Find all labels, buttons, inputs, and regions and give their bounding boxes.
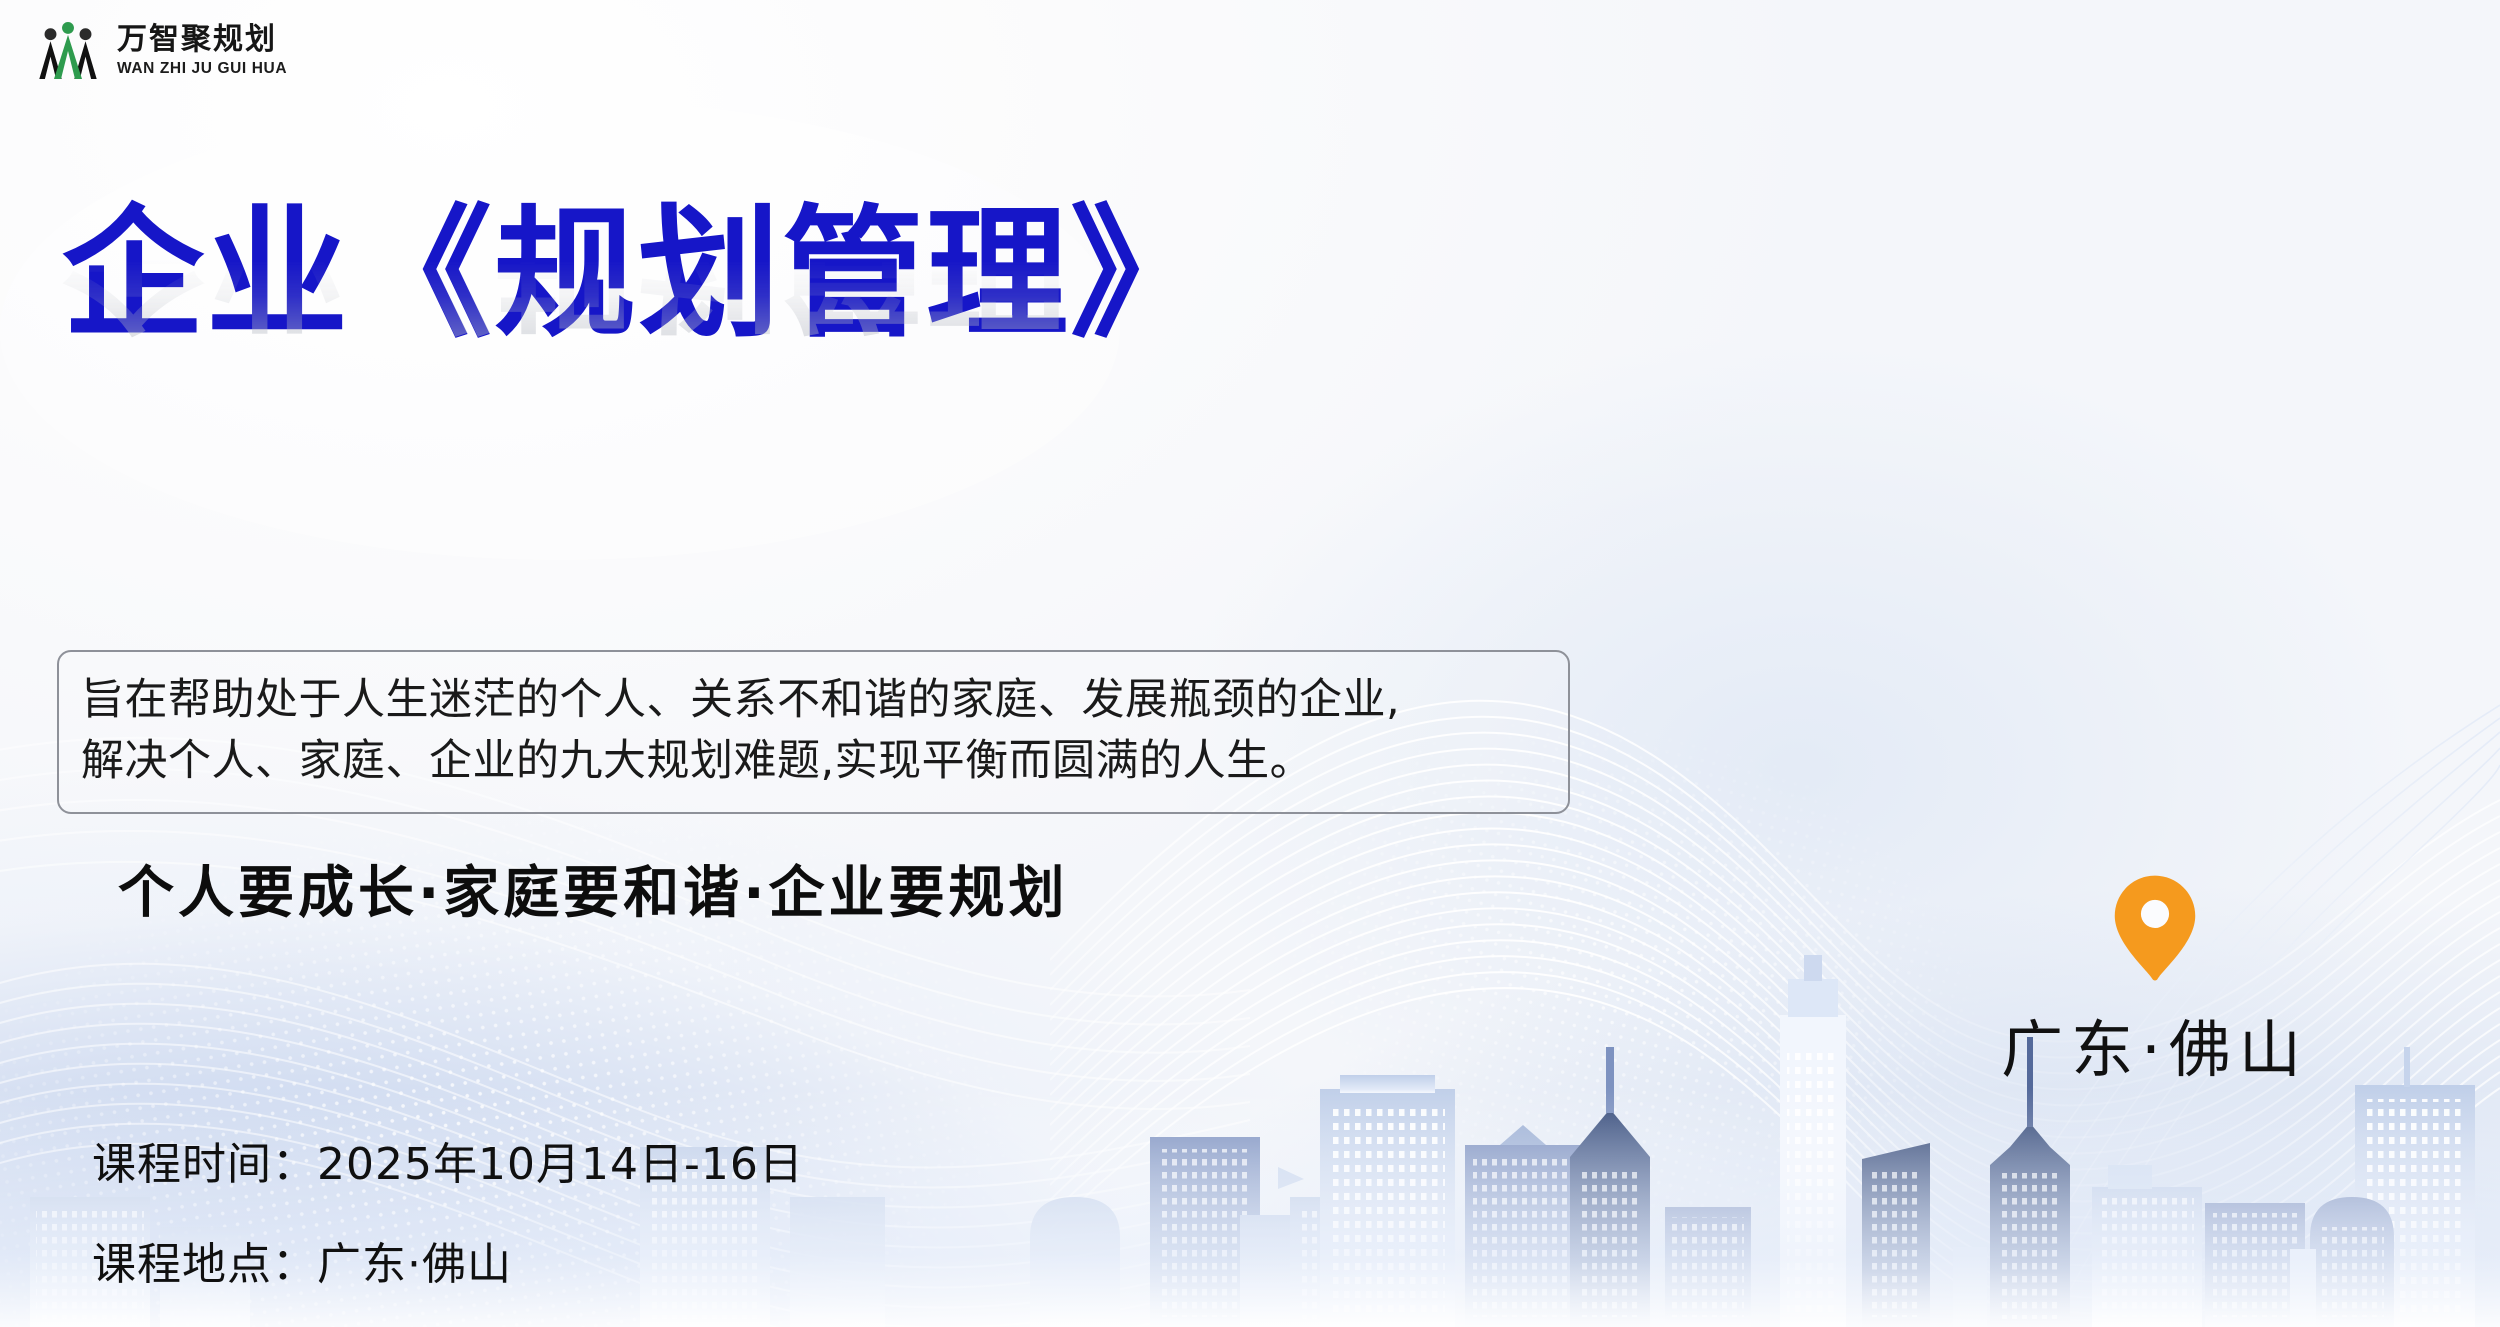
three-people-m-logo-icon [33,16,103,86]
brand-logo-text: 万智聚规划 WAN ZHI JU GUI HUA [117,25,287,77]
location-block: 广东·佛山 [1935,873,2375,1089]
description-line-2: 解决个人、家庭、企业的九大规划难题,实现平衡而圆满的人生。 [81,731,1546,792]
description-line-1: 旨在帮助处于人生迷茫的个人、关系不和谐的家庭、发展瓶颈的企业, [81,670,1546,731]
brand-name-cn: 万智聚规划 [117,25,287,55]
course-place-row: 课程地点：广东·佛山 [92,1228,804,1292]
course-time-row: 课程时间：2025年10月14日-16日 [92,1128,804,1192]
course-info: 课程时间：2025年10月14日-16日 课程地点：广东·佛山 [92,1128,804,1292]
page-title: 企业《规划管理》 [62,198,1062,351]
brand-name-en: WAN ZHI JU GUI HUA [117,61,287,77]
poster-canvas: 万智聚规划 WAN ZHI JU GUI HUA 企业《规划管理》 企业《规划管… [0,0,2500,1327]
description-box: 旨在帮助处于人生迷茫的个人、关系不和谐的家庭、发展瓶颈的企业, 解决个人、家庭、… [57,650,1570,814]
brand-logo: 万智聚规划 WAN ZHI JU GUI HUA [33,16,287,86]
location-label: 广东·佛山 [1935,999,2375,1089]
page-title-block: 企业《规划管理》 企业《规划管理》 [62,198,1062,493]
tagline: 个人要成长·家庭要和谐·企业要规划 [118,848,1069,929]
map-pin-icon [2112,873,2198,983]
